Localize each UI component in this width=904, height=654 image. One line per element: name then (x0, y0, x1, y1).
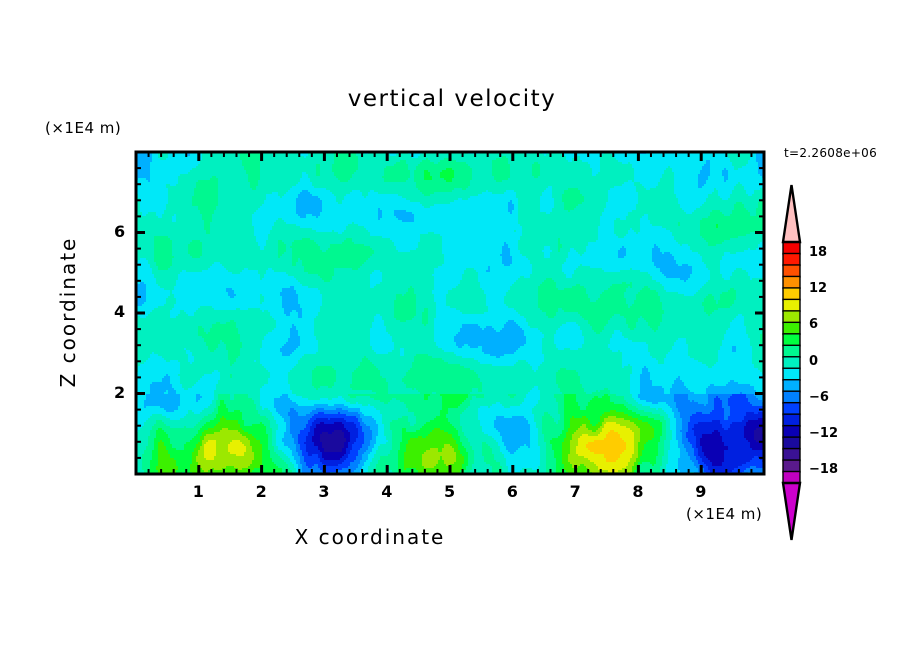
x-tick-label: 8 (632, 482, 643, 501)
x-tick-label: 2 (256, 482, 267, 501)
x-tick-label: 5 (444, 482, 455, 501)
x-axis-unit-label: (×1E4 m) (686, 505, 762, 523)
colorbar-tick-label: 0 (809, 354, 818, 369)
y-axis-title: Z coordinate (56, 222, 80, 402)
x-axis-title: X coordinate (0, 525, 740, 549)
colorbar-tick-label: −6 (809, 390, 829, 405)
x-tick-label: 9 (695, 482, 706, 501)
colorbar-tick-label: −18 (809, 462, 838, 477)
y-tick-label: 2 (114, 383, 125, 402)
x-tick-label: 7 (570, 482, 581, 501)
x-tick-label: 3 (318, 482, 329, 501)
y-tick-label: 4 (114, 302, 125, 321)
colorbar-tick-label: 18 (809, 245, 827, 260)
colorbar-tick-label: 6 (809, 317, 818, 332)
y-tick-label: 6 (114, 222, 125, 241)
x-tick-label: 1 (193, 482, 204, 501)
colorbar-tick-label: 12 (809, 281, 827, 296)
x-tick-label: 6 (507, 482, 518, 501)
colorbar-tick-label: −12 (809, 426, 838, 441)
x-tick-label: 4 (381, 482, 392, 501)
plot-canvas (0, 0, 904, 654)
contour-plot (0, 0, 904, 654)
